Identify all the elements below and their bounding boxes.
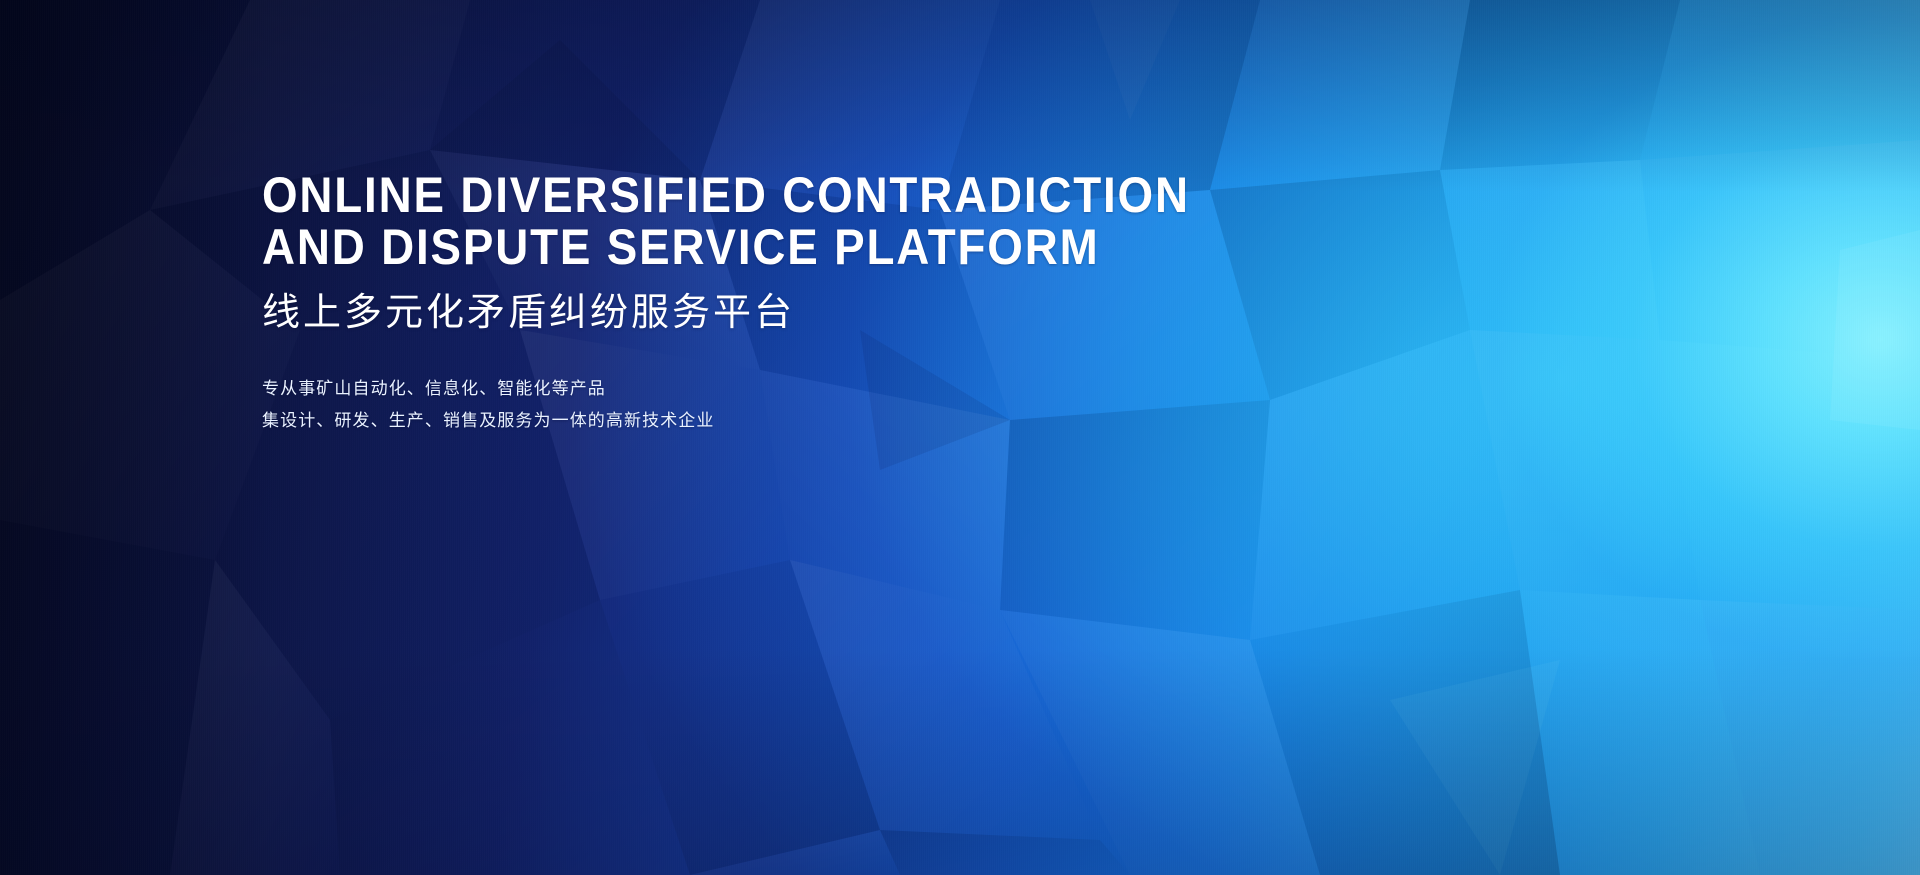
- hero-text-block: ONLINE DIVERSIFIED CONTRADICTION AND DIS…: [262, 170, 1382, 437]
- background-polygon-facets: [0, 0, 1920, 875]
- polygon-facet-layer: [0, 0, 1920, 875]
- subtitle-line2: 集设计、研发、生产、销售及服务为一体的高新技术企业: [262, 405, 1382, 437]
- hero-banner: ONLINE DIVERSIFIED CONTRADICTION AND DIS…: [0, 0, 1920, 875]
- subtitle-block: 专从事矿山自动化、信息化、智能化等产品 集设计、研发、生产、销售及服务为一体的高…: [262, 373, 1382, 437]
- chinese-title: 线上多元化矛盾纠纷服务平台: [262, 291, 1382, 335]
- english-title-line1: ONLINE DIVERSIFIED CONTRADICTION: [262, 170, 1287, 221]
- subtitle-line1: 专从事矿山自动化、信息化、智能化等产品: [262, 373, 1382, 405]
- english-title-line2: AND DISPUTE SERVICE PLATFORM: [262, 222, 1287, 273]
